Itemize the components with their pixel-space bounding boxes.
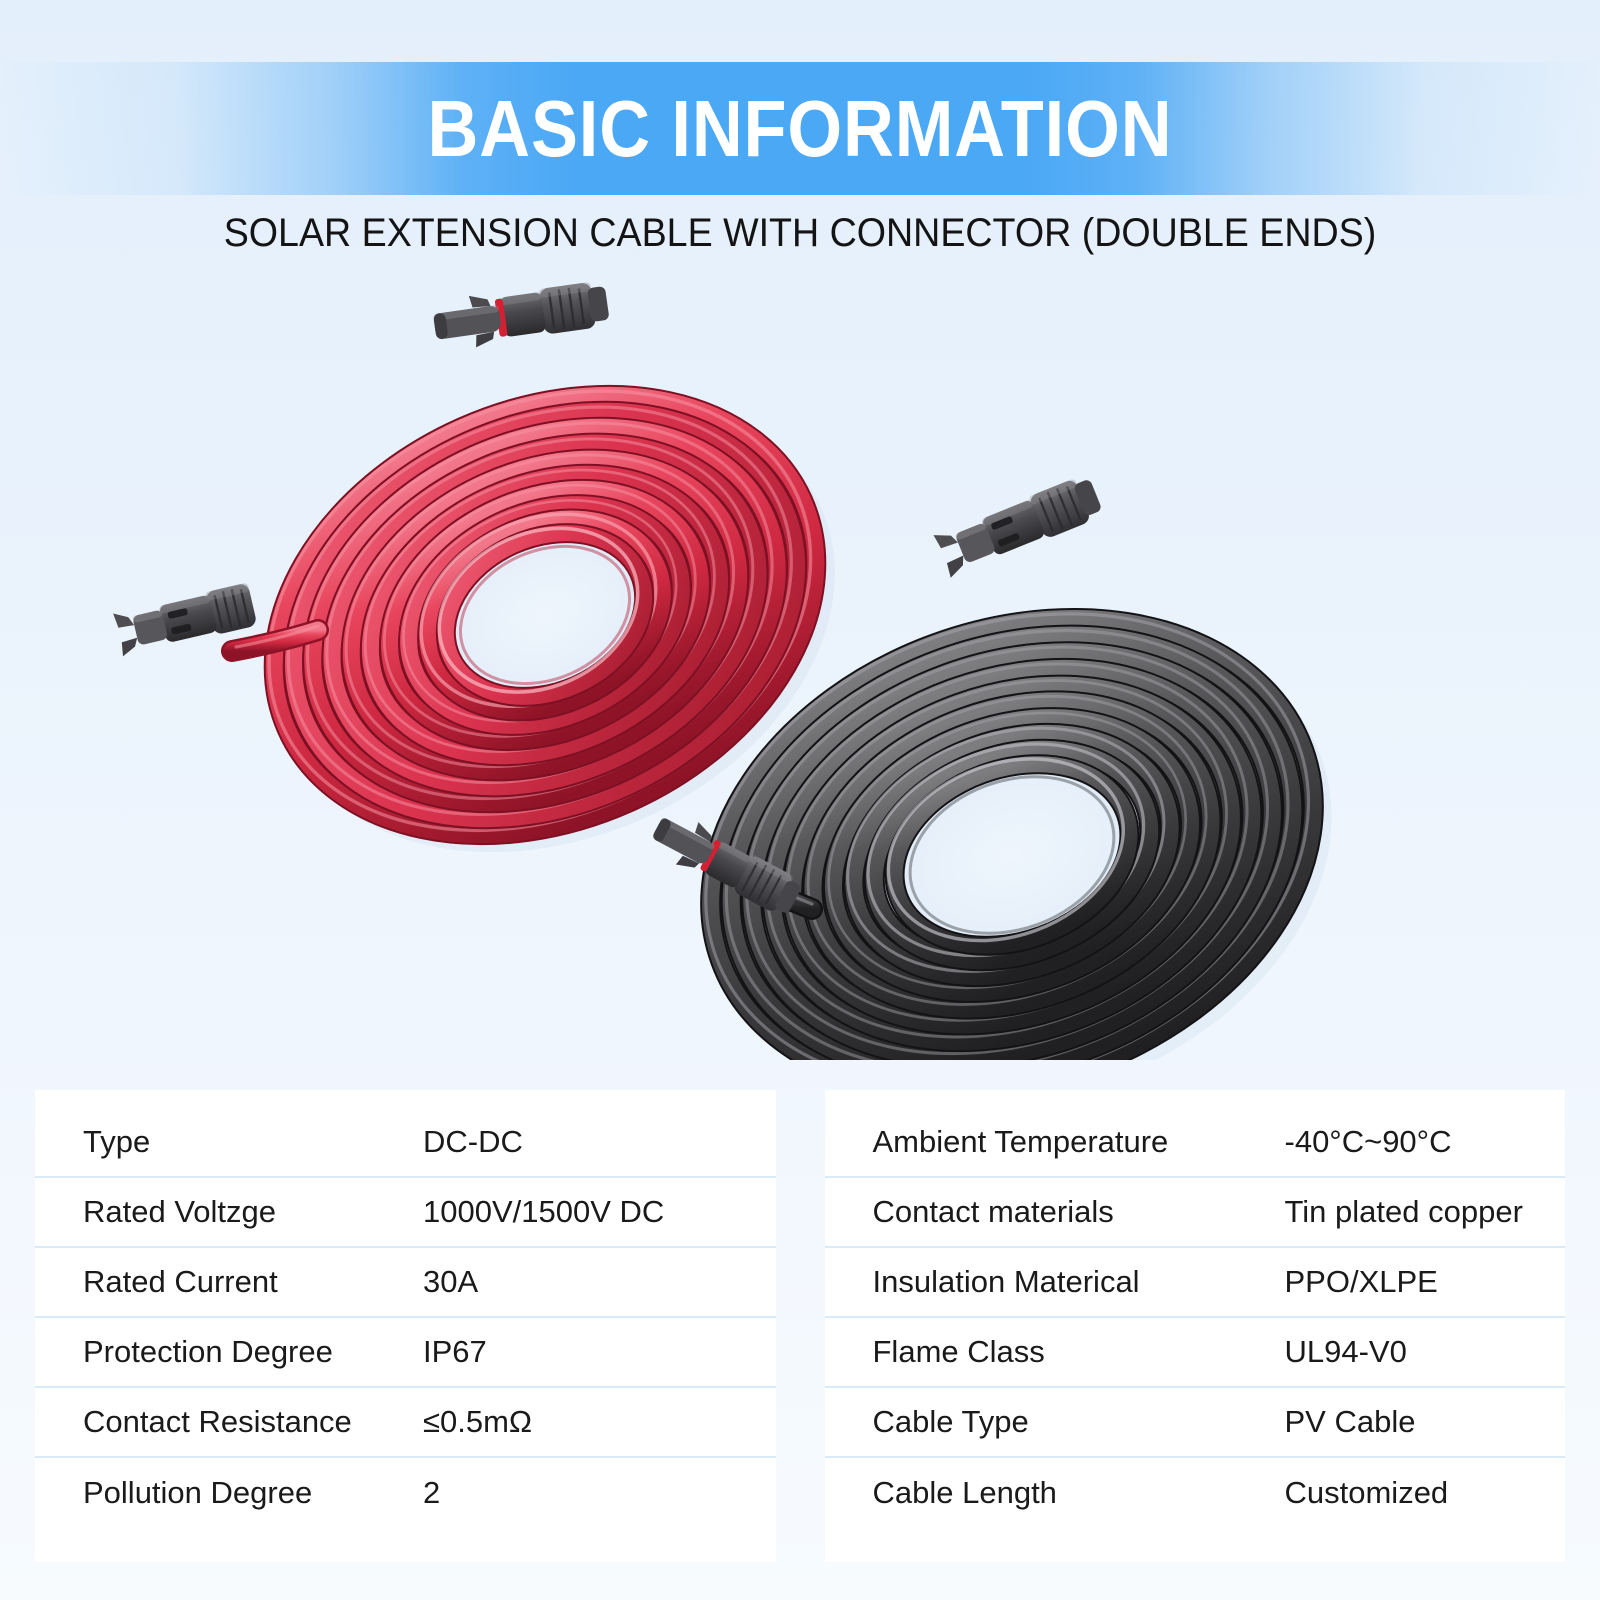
- spec-key: Rated Voltzge: [83, 1194, 423, 1230]
- spec-value: IP67: [423, 1334, 487, 1370]
- table-row: Insulation Materical PPO/XLPE: [825, 1248, 1566, 1318]
- spec-panel-right: Ambient Temperature -40°C~90°C Contact m…: [825, 1090, 1566, 1562]
- mc4-male-connector-red: [431, 277, 611, 353]
- spec-panel-left: Type DC-DC Rated Voltzge 1000V/1500V DC …: [35, 1090, 776, 1562]
- table-row: Rated Current 30A: [35, 1248, 776, 1318]
- spec-value: UL94-V0: [1285, 1334, 1407, 1370]
- spec-value: ≤0.5mΩ: [423, 1404, 532, 1440]
- table-row: Rated Voltzge 1000V/1500V DC: [35, 1178, 776, 1248]
- table-row: Ambient Temperature -40°C~90°C: [825, 1108, 1566, 1178]
- spec-value: Customized: [1285, 1475, 1449, 1511]
- table-row: Contact Resistance ≤0.5mΩ: [35, 1388, 776, 1458]
- spec-value: PV Cable: [1285, 1404, 1416, 1440]
- table-row: Contact materials Tin plated copper: [825, 1178, 1566, 1248]
- page-title: BASIC INFORMATION: [96, 70, 1504, 188]
- spec-key: Rated Current: [83, 1264, 423, 1300]
- spec-value: DC-DC: [423, 1124, 523, 1160]
- spec-key: Ambient Temperature: [873, 1124, 1285, 1160]
- spec-key: Contact Resistance: [83, 1404, 423, 1440]
- table-row: Cable Type PV Cable: [825, 1388, 1566, 1458]
- spec-value: Tin plated copper: [1285, 1194, 1523, 1230]
- table-row: Type DC-DC: [35, 1108, 776, 1178]
- product-image: [0, 270, 1600, 1060]
- table-row: Cable Length Customized: [825, 1458, 1566, 1528]
- mc4-female-connector-black: [934, 473, 1105, 578]
- spec-key: Type: [83, 1124, 423, 1160]
- spec-value: 30A: [423, 1264, 478, 1300]
- spec-value: 2: [423, 1475, 440, 1511]
- spec-value: PPO/XLPE: [1285, 1264, 1438, 1300]
- table-row: Pollution Degree 2: [35, 1458, 776, 1528]
- spec-value: 1000V/1500V DC: [423, 1194, 664, 1230]
- spec-key: Cable Type: [873, 1404, 1285, 1440]
- spec-key: Insulation Materical: [873, 1264, 1285, 1300]
- spec-key: Cable Length: [873, 1475, 1285, 1511]
- specifications-table: Type DC-DC Rated Voltzge 1000V/1500V DC …: [35, 1090, 1565, 1562]
- spec-key: Protection Degree: [83, 1334, 423, 1370]
- spec-key: Flame Class: [873, 1334, 1285, 1370]
- page-subtitle: SOLAR EXTENSION CABLE WITH CONNECTOR (DO…: [48, 206, 1552, 260]
- spec-key: Contact materials: [873, 1194, 1285, 1230]
- table-row: Flame Class UL94-V0: [825, 1318, 1566, 1388]
- spec-value: -40°C~90°C: [1285, 1124, 1452, 1160]
- table-row: Protection Degree IP67: [35, 1318, 776, 1388]
- spec-key: Pollution Degree: [83, 1475, 423, 1511]
